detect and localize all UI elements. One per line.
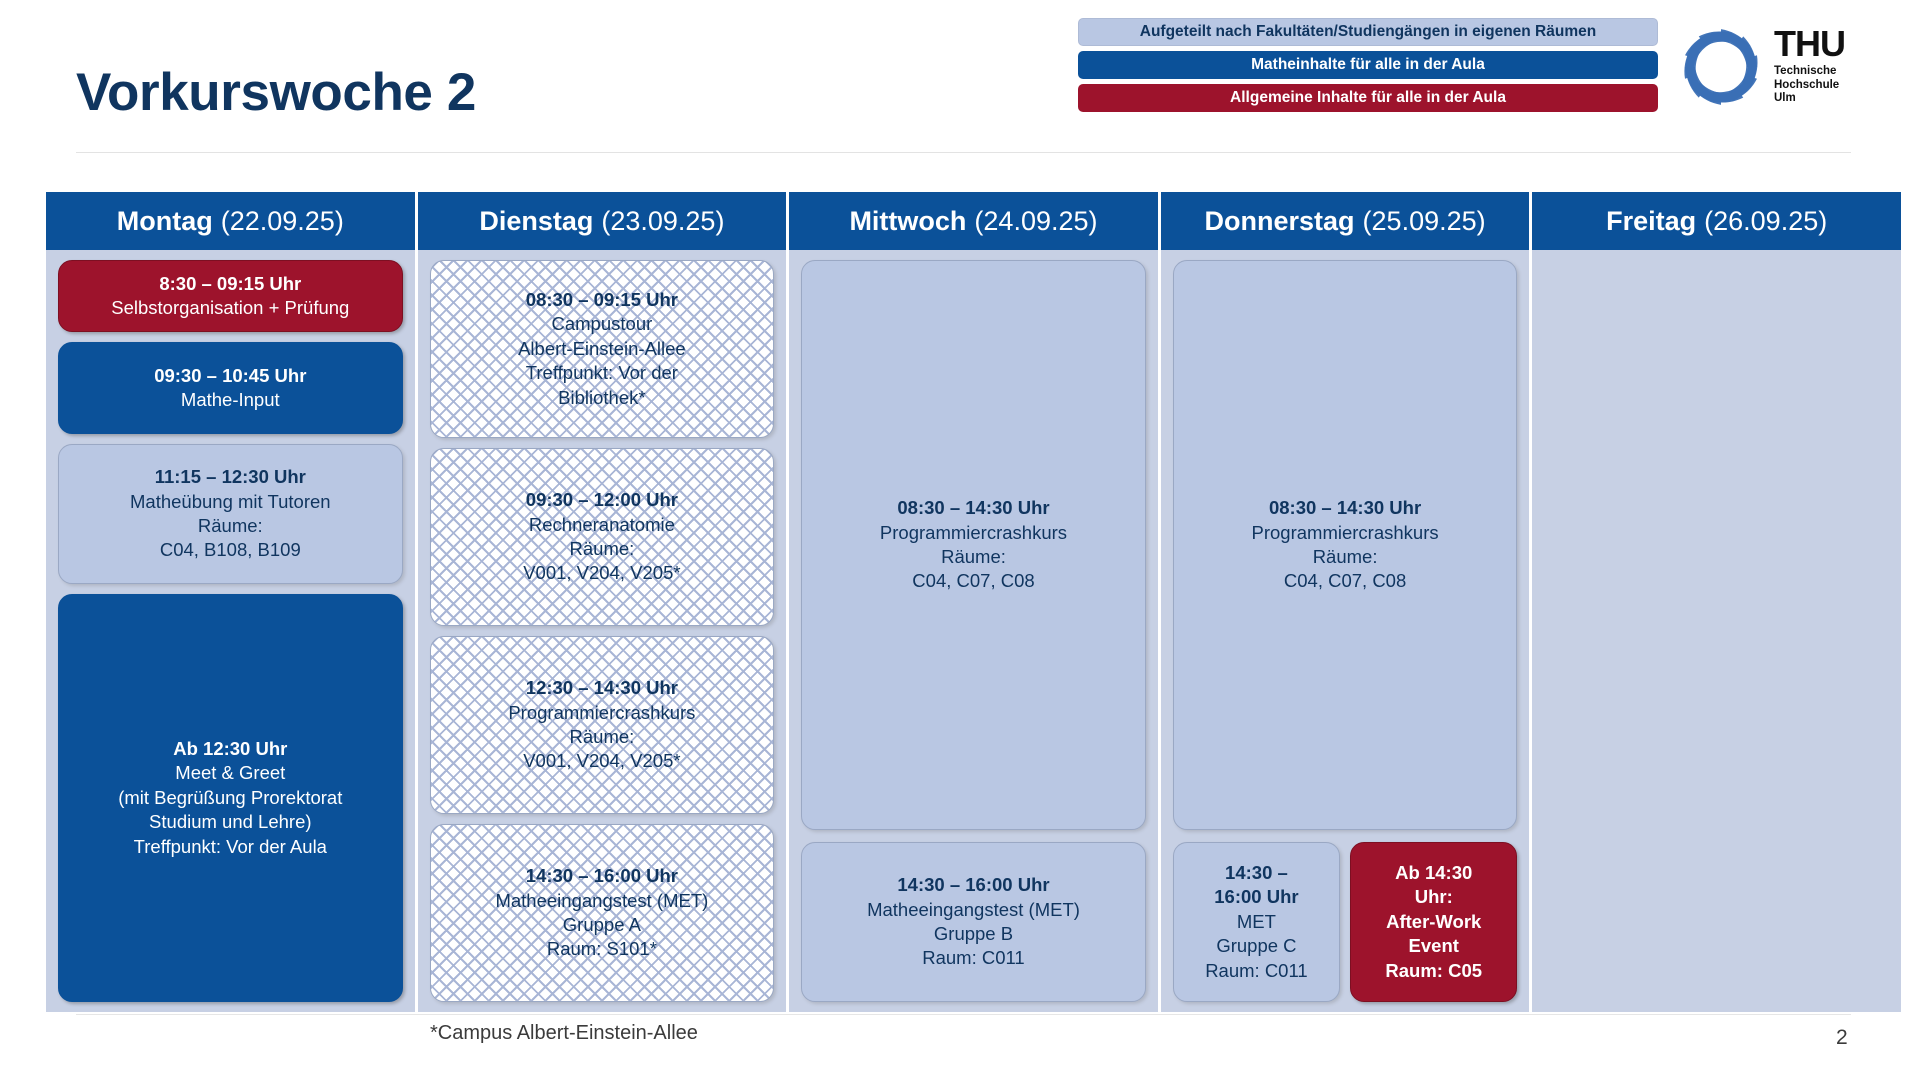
event-detail: Studium und Lehre) xyxy=(149,810,312,834)
day-column-montag: Montag (22.09.25) 8:30 – 09:15 Uhr Selbs… xyxy=(46,192,415,1012)
event-detail: Selbstorganisation + Prüfung xyxy=(111,296,349,320)
event-detail: Gruppe A xyxy=(563,913,641,937)
event-card[interactable]: 08:30 – 14:30 Uhr Programmiercrashkurs R… xyxy=(1173,260,1518,830)
event-detail: Matheeingangstest (MET) xyxy=(867,898,1080,922)
event-time: 14:30 – 16:00 Uhr xyxy=(897,873,1049,897)
event-card[interactable]: 14:30 – 16:00 Uhr Matheeingangstest (MET… xyxy=(430,824,775,1002)
event-card[interactable]: 14:30 – 16:00 Uhr MET Gruppe C Raum: C01… xyxy=(1173,842,1340,1002)
event-detail: C04, C07, C08 xyxy=(912,569,1034,593)
event-detail: (mit Begrüßung Prorektorat xyxy=(118,786,342,810)
day-date: (26.09.25) xyxy=(1704,206,1827,237)
day-body-montag: 8:30 – 09:15 Uhr Selbstorganisation + Pr… xyxy=(46,250,415,1012)
day-header-montag: Montag (22.09.25) xyxy=(46,192,415,250)
thu-subtitle: Technische Hochschule Ulm xyxy=(1774,65,1878,106)
event-time: Ab 12:30 Uhr xyxy=(173,737,287,761)
event-detail: Raum: C011 xyxy=(1205,959,1307,983)
day-column-donnerstag: Donnerstag (25.09.25) 08:30 – 14:30 Uhr … xyxy=(1161,192,1530,1012)
event-time: 11:15 – 12:30 Uhr xyxy=(155,465,306,489)
day-name: Montag xyxy=(117,206,213,237)
event-detail: Event xyxy=(1409,934,1459,958)
thu-swirl-icon xyxy=(1678,24,1764,110)
event-card[interactable]: 11:15 – 12:30 Uhr Matheübung mit Tutoren… xyxy=(58,444,403,584)
event-time: Ab 14:30 xyxy=(1395,861,1472,885)
event-card[interactable]: 09:30 – 10:45 Uhr Mathe-Input xyxy=(58,342,403,434)
event-detail: Albert-Einstein-Allee xyxy=(518,337,686,361)
event-time-second: Uhr: xyxy=(1415,885,1453,909)
event-card[interactable]: 09:30 – 12:00 Uhr Rechneranatomie Räume:… xyxy=(430,448,775,626)
event-card[interactable]: 12:30 – 14:30 Uhr Programmiercrashkurs R… xyxy=(430,636,775,814)
event-detail: Rechneranatomie xyxy=(529,513,675,537)
event-card[interactable]: 08:30 – 14:30 Uhr Programmiercrashkurs R… xyxy=(801,260,1146,830)
thu-subtitle-line2: Hochschule xyxy=(1774,79,1878,93)
event-time: 12:30 – 14:30 Uhr xyxy=(526,676,678,700)
event-card[interactable]: 8:30 – 09:15 Uhr Selbstorganisation + Pr… xyxy=(58,260,403,332)
event-detail: MET xyxy=(1237,910,1276,934)
legend-item-label: Matheinhalte für alle in der Aula xyxy=(1251,56,1485,74)
day-column-mittwoch: Mittwoch (24.09.25) 08:30 – 14:30 Uhr Pr… xyxy=(789,192,1158,1012)
event-detail: Meet & Greet xyxy=(175,761,285,785)
event-detail: Räume: xyxy=(570,725,635,749)
day-body-mittwoch: 08:30 – 14:30 Uhr Programmiercrashkurs R… xyxy=(789,250,1158,1012)
event-detail: Räume: xyxy=(1313,545,1378,569)
event-detail: Matheübung mit Tutoren xyxy=(130,490,331,514)
event-time: 08:30 – 14:30 Uhr xyxy=(897,496,1049,520)
event-detail: Gruppe B xyxy=(934,922,1013,946)
event-detail: Bibliothek* xyxy=(558,386,645,410)
title-divider xyxy=(76,152,1851,153)
legend-item-faculties: Aufgeteilt nach Fakultäten/Studiengängen… xyxy=(1078,18,1658,46)
day-body-freitag xyxy=(1532,250,1901,1012)
thu-letters: THU xyxy=(1774,26,1878,62)
day-header-mittwoch: Mittwoch (24.09.25) xyxy=(789,192,1158,250)
legend: Aufgeteilt nach Fakultäten/Studiengängen… xyxy=(1078,18,1658,117)
event-detail: V001, V204, V205* xyxy=(523,561,680,585)
event-split-row: 14:30 – 16:00 Uhr MET Gruppe C Raum: C01… xyxy=(1173,842,1518,1002)
event-time-second: 16:00 Uhr xyxy=(1214,885,1298,909)
event-detail: Matheeingangstest (MET) xyxy=(495,889,708,913)
page-title: Vorkurswoche 2 xyxy=(76,62,476,123)
event-detail: Raum: C05 xyxy=(1385,959,1482,983)
day-name: Donnerstag xyxy=(1205,206,1355,237)
event-detail: Programmiercrashkurs xyxy=(1252,521,1439,545)
event-detail: V001, V204, V205* xyxy=(523,749,680,773)
day-header-freitag: Freitag (26.09.25) xyxy=(1532,192,1901,250)
footer-divider xyxy=(76,1014,1851,1015)
event-card[interactable]: 08:30 – 09:15 Uhr Campustour Albert-Eins… xyxy=(430,260,775,438)
event-detail: C04, C07, C08 xyxy=(1284,569,1406,593)
day-header-dienstag: Dienstag (23.09.25) xyxy=(418,192,787,250)
page-number: 2 xyxy=(1836,1026,1848,1050)
day-name: Freitag xyxy=(1606,206,1696,237)
event-card[interactable]: Ab 14:30 Uhr: After-Work Event Raum: C05 xyxy=(1350,842,1517,1002)
event-card[interactable]: 14:30 – 16:00 Uhr Matheeingangstest (MET… xyxy=(801,842,1146,1002)
event-detail: Treffpunkt: Vor der xyxy=(526,361,678,385)
event-time: 14:30 – 16:00 Uhr xyxy=(526,864,678,888)
thu-subtitle-line1: Technische xyxy=(1774,65,1878,79)
event-detail: C04, B108, B109 xyxy=(160,538,301,562)
legend-item-label: Aufgeteilt nach Fakultäten/Studiengängen… xyxy=(1140,23,1596,41)
event-time: 09:30 – 12:00 Uhr xyxy=(526,488,678,512)
legend-item-math: Matheinhalte für alle in der Aula xyxy=(1078,51,1658,79)
event-time: 08:30 – 14:30 Uhr xyxy=(1269,496,1421,520)
event-time: 09:30 – 10:45 Uhr xyxy=(154,364,306,388)
event-detail: Treffpunkt: Vor der Aula xyxy=(134,835,327,859)
event-detail: Raum: C011 xyxy=(922,946,1024,970)
day-name: Dienstag xyxy=(479,206,593,237)
event-detail: Gruppe C xyxy=(1216,934,1296,958)
footnote: *Campus Albert-Einstein-Allee xyxy=(430,1022,698,1045)
event-detail: After-Work xyxy=(1386,910,1481,934)
thu-subtitle-line3: Ulm xyxy=(1774,92,1878,106)
event-detail: Mathe-Input xyxy=(181,388,280,412)
event-detail: Raum: S101* xyxy=(547,937,657,961)
event-detail: Räume: xyxy=(570,537,635,561)
event-detail: Räume: xyxy=(198,514,263,538)
slide-header: Vorkurswoche 2 Aufgeteilt nach Fakultäte… xyxy=(0,0,1920,160)
day-column-freitag: Freitag (26.09.25) xyxy=(1532,192,1901,1012)
day-column-dienstag: Dienstag (23.09.25) 08:30 – 09:15 Uhr Ca… xyxy=(418,192,787,1012)
day-date: (24.09.25) xyxy=(974,206,1097,237)
thu-wordmark: THU Technische Hochschule Ulm xyxy=(1774,26,1878,106)
event-time: 14:30 – xyxy=(1225,861,1288,885)
day-date: (23.09.25) xyxy=(601,206,724,237)
day-body-donnerstag: 08:30 – 14:30 Uhr Programmiercrashkurs R… xyxy=(1161,250,1530,1012)
event-detail: Räume: xyxy=(941,545,1006,569)
day-date: (25.09.25) xyxy=(1363,206,1486,237)
event-detail: Campustour xyxy=(552,312,653,336)
day-header-donnerstag: Donnerstag (25.09.25) xyxy=(1161,192,1530,250)
event-detail: Programmiercrashkurs xyxy=(880,521,1067,545)
day-date: (22.09.25) xyxy=(221,206,344,237)
legend-item-label: Allgemeine Inhalte für alle in der Aula xyxy=(1230,89,1506,107)
event-time: 08:30 – 09:15 Uhr xyxy=(526,288,678,312)
event-time: 8:30 – 09:15 Uhr xyxy=(159,272,301,296)
timetable: Montag (22.09.25) 8:30 – 09:15 Uhr Selbs… xyxy=(46,192,1901,1012)
day-name: Mittwoch xyxy=(849,206,966,237)
thu-logo: THU Technische Hochschule Ulm xyxy=(1678,22,1878,114)
day-body-dienstag: 08:30 – 09:15 Uhr Campustour Albert-Eins… xyxy=(418,250,787,1012)
event-card[interactable]: Ab 12:30 Uhr Meet & Greet (mit Begrüßung… xyxy=(58,594,403,1002)
legend-item-general: Allgemeine Inhalte für alle in der Aula xyxy=(1078,84,1658,112)
event-detail: Programmiercrashkurs xyxy=(508,701,695,725)
